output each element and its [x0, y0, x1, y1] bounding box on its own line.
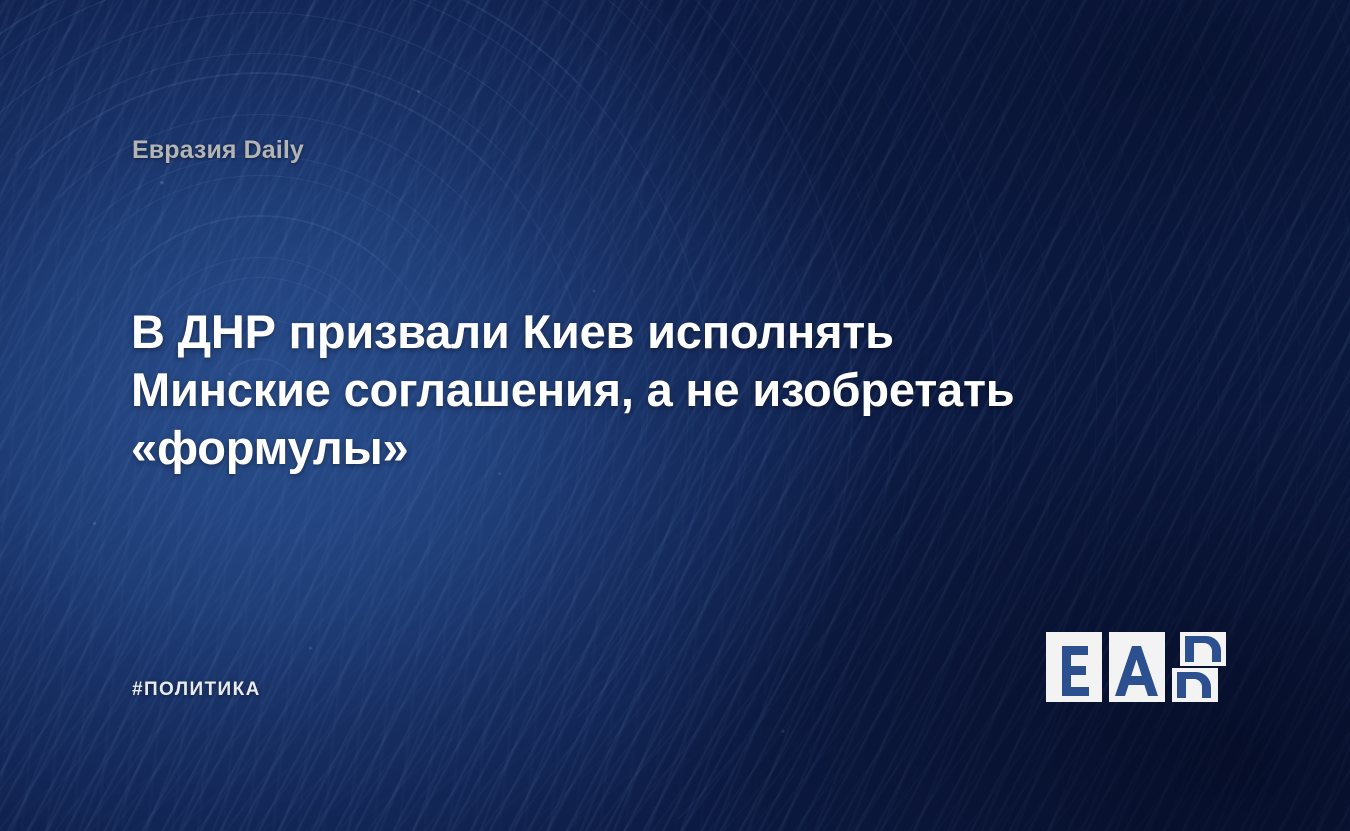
publication-brand: Евразия Daily	[132, 136, 304, 165]
page-title-line: «формулы»	[131, 419, 1201, 477]
page-title-line: Минские соглашения, а не изобретать	[131, 361, 1201, 419]
ead-logo	[1044, 616, 1228, 716]
page-title: В ДНР призвали Киев исполнятьМинские сог…	[131, 303, 1201, 477]
category-tag: #ПОЛИТИКА	[132, 679, 261, 701]
ead-logo-mark	[1044, 616, 1228, 716]
page-title-line: В ДНР призвали Киев исполнять	[131, 303, 1201, 361]
logo-letter-e	[1062, 646, 1089, 696]
news-share-card: Евразия Daily В ДНР призвали Киев исполн…	[0, 0, 1350, 831]
card-content: Евразия Daily В ДНР призвали Киев исполн…	[0, 0, 1350, 831]
